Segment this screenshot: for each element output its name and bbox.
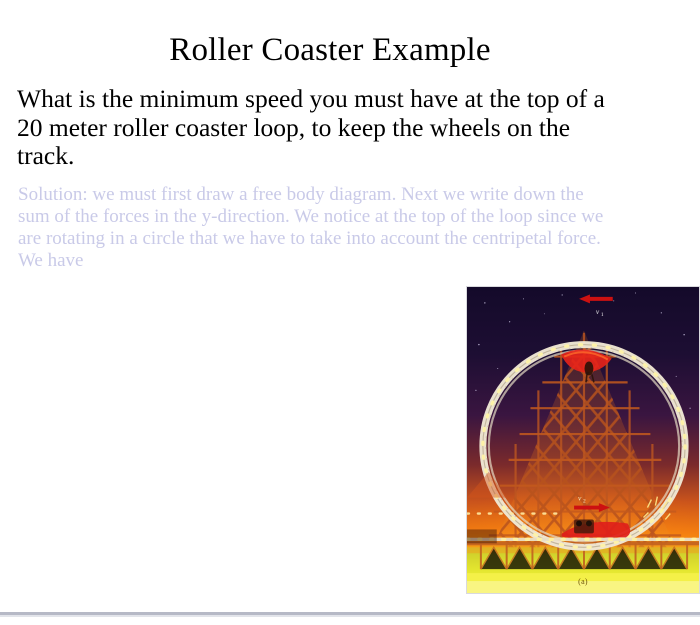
foreground-silhouette [467, 529, 497, 543]
top-velocity-subscript: 1 [601, 312, 604, 318]
bottom-divider-shadow [0, 615, 700, 617]
roller-coaster-image: v 1 v 2 [467, 287, 699, 593]
figure-caption: (a) [467, 577, 699, 586]
slide-canvas: Roller Coaster Example What is the minim… [0, 0, 700, 625]
question-text: What is the minimum speed you must have … [17, 85, 617, 171]
bottom-velocity-subscript: 2 [583, 499, 586, 505]
roller-coaster-figure: v 1 v 2 [466, 286, 700, 594]
solution-text: Solution: we must first draw a free body… [18, 184, 620, 272]
page-title: Roller Coaster Example [0, 30, 660, 70]
